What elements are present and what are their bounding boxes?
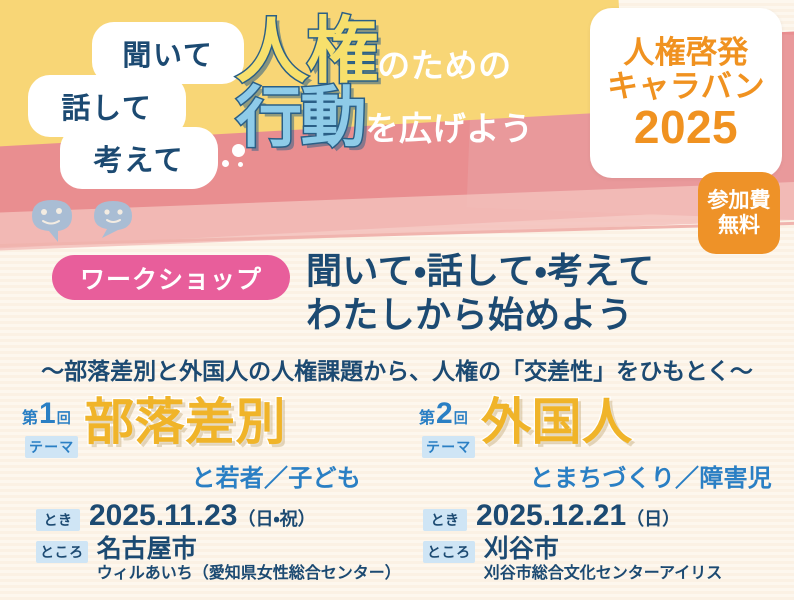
main-title-line-2: わたしから始めよう [306, 293, 654, 337]
session-1-ordinal: 第 1 回 [22, 400, 71, 428]
session-1-date-row: とき 2025.11.23（日・祝） [36, 500, 401, 532]
speech-bubble-faces [28, 196, 158, 246]
poster-root: 聞いて 話して 考えて 人権 のための 行動 を広げよう 人権啓発 キャラバン … [0, 0, 794, 600]
session-2-ordinal-suffix: 回 [454, 408, 468, 428]
session-1-place-city: 名古屋市 [97, 536, 401, 564]
session-2-info: とき 2025.12.21（日） ところ 刈谷市 刈谷市総合文化センターアイリス [423, 500, 722, 588]
session-2-date-key: とき [423, 509, 467, 531]
session-1-place-key: ところ [36, 541, 88, 563]
caravan-line-1: 人権啓発 [623, 36, 748, 69]
main-title: 聞いて・話して・考えて わたしから始めよう [306, 249, 654, 337]
session-2-date-dow: （日） [626, 509, 680, 529]
workshop-pill: ワークショップ [52, 255, 290, 300]
session-2-place-block: 刈谷市 刈谷市総合文化センターアイリス [484, 536, 723, 585]
workshop-pill-label: ワークショップ [80, 260, 262, 296]
session-1-theme-title: 部落差別 [84, 396, 286, 449]
headline-tail-notameno: のための [377, 49, 512, 88]
chip-hanashite-label: 話して [61, 85, 152, 127]
session-2-ordinal-number: 2 [436, 400, 453, 427]
free-badge-line-2: 無料 [718, 214, 760, 237]
session-1-info: とき 2025.11.23（日・祝） ところ 名古屋市 ウィルあいち（愛知県女性… [36, 500, 401, 588]
headline-keyword-jinken: 人権 [236, 16, 377, 88]
session-1-ordinal-number: 1 [39, 400, 56, 427]
session-1-ordinal-suffix: 回 [57, 408, 71, 428]
headline-keyword-kodo: 行動 [236, 84, 365, 150]
session-1-date-text: 2025.11.23 [89, 499, 238, 532]
session-2-ordinal-prefix: 第 [419, 404, 435, 428]
session-1-place-venue: ウィルあいち（愛知県女性総合センター） [97, 564, 401, 584]
session-1-date-dow: （日・祝） [238, 509, 316, 529]
session-2-theme-label: テーマ [422, 436, 475, 458]
session-column-1: 第 1 回 テーマ 部落差別 と若者／子ども とき 2025.11.23（日・祝… [0, 396, 397, 600]
session-1-place-row: ところ 名古屋市 ウィルあいち（愛知県女性総合センター） [36, 536, 401, 585]
sparkle-dot-medium [222, 160, 229, 167]
main-title-line-1: 聞いて・話して・考えて [306, 249, 654, 293]
chip-kangaete-label: 考えて [94, 137, 185, 179]
headline-tail-hirogeyou: を広げよう [365, 112, 533, 150]
session-1-ordinal-prefix: 第 [22, 404, 38, 428]
session-2-place-row: ところ 刈谷市 刈谷市総合文化センターアイリス [423, 536, 722, 585]
session-2-theme-title: 外国人 [481, 396, 633, 449]
session-1-date-value: 2025.11.23（日・祝） [89, 500, 316, 532]
free-participation-badge: 参加費 無料 [698, 172, 780, 254]
session-2-theme-head: 第 2 回 テーマ 外国人 とまちづくり／障害児 [397, 396, 794, 484]
session-2-date-text: 2025.12.21 [476, 499, 626, 532]
session-2-date-row: とき 2025.12.21（日） [423, 500, 722, 532]
sparkle-dot-small [238, 162, 243, 167]
session-1-theme-sub: と若者／子ども [191, 458, 361, 493]
session-2-theme-sub: とまちづくり／障害児 [530, 458, 772, 493]
session-2-ordinal: 第 2 回 [419, 400, 468, 428]
session-column-2: 第 2 回 テーマ 外国人 とまちづくり／障害児 とき 2025.12.21（日… [397, 396, 794, 600]
chip-kangaete: 考えて [60, 127, 218, 189]
free-badge-line-1: 参加費 [708, 189, 771, 212]
speech-bubble-face-icon [28, 196, 158, 246]
session-2-place-key: ところ [423, 541, 475, 563]
subtitle: 〜部落差別と外国人の人権課題から、人権の「交差性」をひもとく〜 [0, 352, 794, 386]
session-2-date-value: 2025.12.21（日） [476, 500, 680, 532]
session-1-theme-label: テーマ [25, 436, 78, 458]
caravan-card: 人権啓発 キャラバン 2025 [590, 8, 782, 178]
session-2-place-city: 刈谷市 [484, 536, 723, 564]
session-2-place-venue: 刈谷市総合文化センターアイリス [484, 564, 723, 584]
session-1-date-key: とき [36, 509, 80, 531]
session-1-place-block: 名古屋市 ウィルあいち（愛知県女性総合センター） [97, 536, 401, 585]
caravan-line-2: キャラバン [607, 70, 765, 103]
chip-kiite-label: 聞いて [122, 32, 213, 74]
session-1-theme-head: 第 1 回 テーマ 部落差別 と若者／子ども [0, 396, 397, 484]
caravan-year: 2025 [634, 104, 738, 150]
